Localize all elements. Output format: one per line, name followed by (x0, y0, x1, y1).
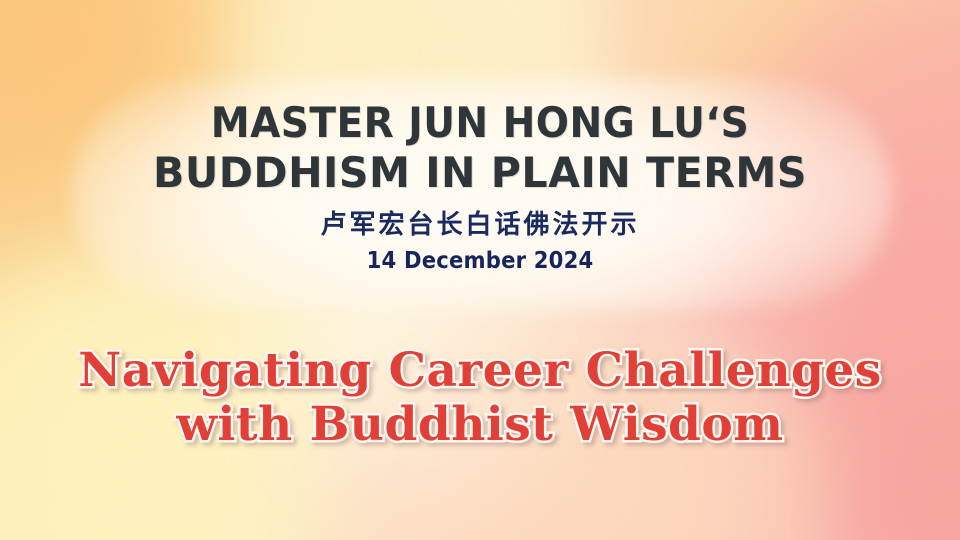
topic-title-group: Navigating Career Challenges with Buddhi… (0, 344, 960, 452)
series-title-line-2: BUDDHISM IN PLAIN TERMS (10, 148, 951, 198)
series-title-line-1: MASTER JUN HONG LU‘S (34, 98, 927, 148)
series-title-chinese: 卢军宏台长白话佛法开示 (0, 210, 960, 240)
event-date: 14 December 2024 (38, 248, 921, 275)
presentation-slide: MASTER JUN HONG LU‘S BUDDHISM IN PLAIN T… (0, 0, 960, 540)
topic-title-line-2: with Buddhist Wisdom (0, 398, 960, 452)
header-text-group: MASTER JUN HONG LU‘S BUDDHISM IN PLAIN T… (0, 98, 960, 275)
topic-title-line-1: Navigating Career Challenges (0, 344, 960, 398)
